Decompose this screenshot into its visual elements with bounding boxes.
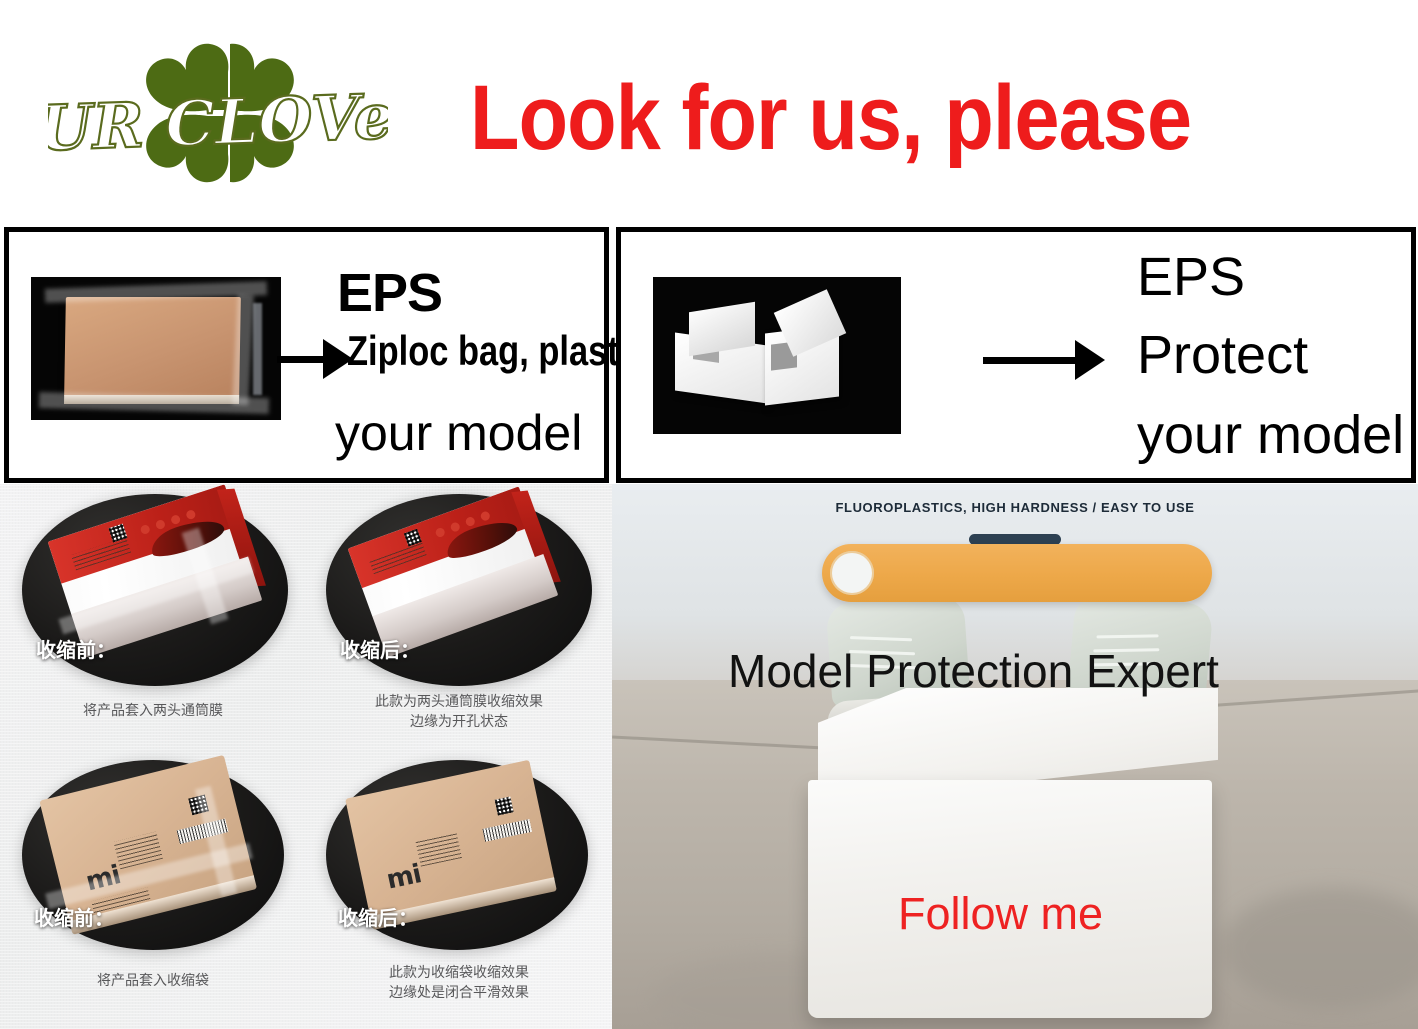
right-arrow-icon [277, 336, 355, 382]
ziploc-photo [31, 277, 281, 420]
collage-cell: mi 收缩前： 将产品套入收缩袋 [0, 756, 306, 1028]
follow-me-cta: Follow me [898, 888, 1103, 940]
cell-caption: 将产品套入两头通筒膜 [0, 701, 306, 721]
eps-title-left: EPS [337, 266, 442, 320]
eps-line2-left: your model [335, 408, 582, 458]
top-caption: FLUOROPLASTICS, HIGH HARDNESS / EASY TO … [612, 500, 1418, 515]
shrink-wrap-comparison-collage: 收缩前： 将产品套入两头通筒膜 收缩后： 此款为两头通筒膜收缩效果 边缘为开孔状… [0, 484, 612, 1029]
cell-label: 收缩后： [338, 902, 418, 931]
cell-label: 收缩前： [34, 902, 114, 931]
cell-caption: 将产品套入收缩袋 [0, 971, 306, 991]
header: BUR CLOVeR Look for us, please [0, 0, 1418, 227]
cell-label: 收缩前： [36, 634, 116, 663]
cell-caption: 此款为两头通筒膜收缩效果 边缘为开孔状态 [306, 692, 612, 733]
collage-cell: 收缩后： 此款为两头通筒膜收缩效果 边缘为开孔状态 [306, 484, 612, 756]
foam-strength-demo-photo: FLUOROPLASTICS, HIGH HARDNESS / EASY TO … [612, 484, 1418, 1029]
cell-label: 收缩后： [340, 634, 420, 663]
logo-wordmark: BUR CLOVeR [48, 32, 388, 192]
orange-handle-bar [822, 544, 1212, 602]
eps-title-right: EPS [1137, 250, 1245, 304]
logo-text: BUR CLOVeR [48, 78, 388, 167]
bur-clover-logo: BUR CLOVeR [48, 32, 388, 192]
collage-cell: mi 收缩后： 此款为收缩袋收缩效果 边缘处是闭合平滑效果 [306, 756, 612, 1028]
cell-caption: 此款为收缩袋收缩效果 边缘处是闭合平滑效果 [306, 963, 612, 1004]
handle-knob [830, 551, 874, 595]
eps-foam-photo [653, 277, 901, 434]
promo-banner: BUR CLOVeR Look for us, please EPS Ziplo… [0, 0, 1418, 1029]
kraft-box [64, 297, 241, 397]
white-foam-box [808, 688, 1228, 1018]
eps-line1-right: Protect [1137, 328, 1308, 382]
ziploc-panel: EPS Ziploc bag, plastic seal your model [4, 227, 609, 483]
film-sheen [253, 303, 262, 395]
page-title: Look for us, please [470, 72, 1165, 164]
mi-logo: mi [384, 859, 424, 895]
collage-cell: 收缩前： 将产品套入两头通筒膜 [0, 484, 306, 756]
protect-panel: EPS Protect your model [616, 227, 1416, 483]
eps-panel-row: EPS Ziploc bag, plastic seal your model … [0, 227, 1418, 484]
right-arrow-icon [983, 336, 1113, 384]
demo-headline: Model Protection Expert [728, 644, 1219, 698]
eps-line2-right: your model [1137, 408, 1404, 462]
